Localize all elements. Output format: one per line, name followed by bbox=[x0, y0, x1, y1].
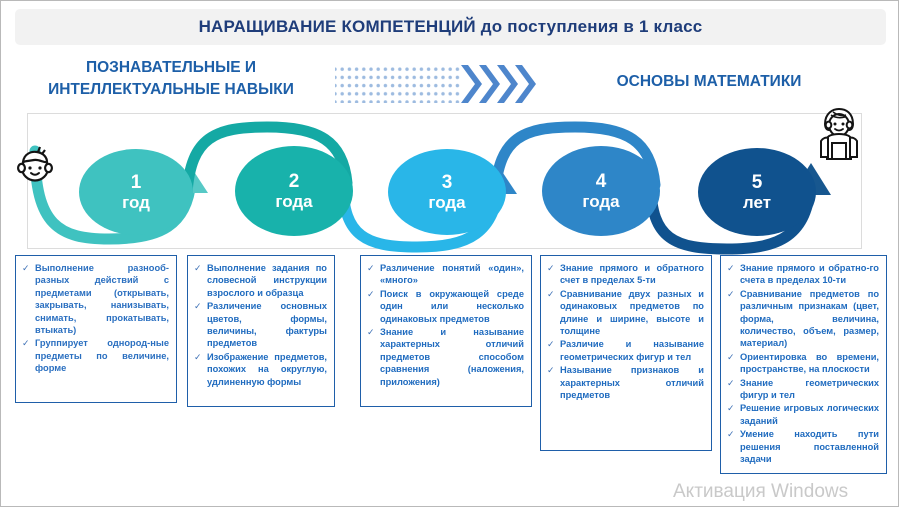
competency-item-text: Знание прямого и обратного счет в предел… bbox=[560, 262, 704, 287]
slide-title-bar: НАРАЩИВАНИЕ КОМПЕТЕНЦИЙ до поступления в… bbox=[15, 9, 886, 45]
competency-item: ✓Сравнивание предметов по различным приз… bbox=[727, 288, 879, 350]
check-icon: ✓ bbox=[727, 351, 737, 364]
competency-item-text: Умение находить пути решения поставленно… bbox=[740, 428, 879, 465]
competency-item: ✓Группирует однород-ные предметы по вели… bbox=[22, 337, 169, 374]
check-icon: ✓ bbox=[547, 338, 557, 351]
slide-root: НАРАЩИВАНИЕ КОМПЕТЕНЦИЙ до поступления в… bbox=[0, 0, 899, 507]
check-icon: ✓ bbox=[194, 351, 204, 364]
competency-item-text: Выполнение разнооб-разных действий с пре… bbox=[35, 262, 169, 336]
competency-item-text: Сравнивание предметов по различным призн… bbox=[740, 288, 879, 350]
stage-circle-4[interactable]: 4 года bbox=[542, 146, 660, 236]
stage-unit: года bbox=[582, 192, 619, 211]
schoolboy-icon bbox=[813, 107, 865, 163]
stage-circle-1[interactable]: 1 год bbox=[79, 149, 193, 235]
competency-item: ✓Выполнение разнооб-разных действий с пр… bbox=[22, 262, 169, 336]
competency-item-text: Изображение предметов, похожих на округл… bbox=[207, 351, 327, 388]
competency-item-text: Знание геометрических фигур и тел bbox=[740, 377, 879, 402]
page-title: НАРАЩИВАНИЕ КОМПЕТЕНЦИЙ до поступления в… bbox=[199, 17, 703, 37]
check-icon: ✓ bbox=[547, 288, 557, 301]
stage-number: 4 bbox=[596, 171, 607, 192]
competency-item: ✓Различение основных цветов, формы, вели… bbox=[194, 300, 327, 350]
page-title-strong: НАРАЩИВАНИЕ КОМПЕТЕНЦИЙ bbox=[199, 17, 476, 36]
competency-box-3: ✓Различение понятий «один», «много»✓Поис… bbox=[360, 255, 532, 407]
competency-box-1: ✓Выполнение разнооб-разных действий с пр… bbox=[15, 255, 177, 403]
competency-item-text: Поиск в окружающей среде один или нескол… bbox=[380, 288, 524, 325]
stage-number: 3 bbox=[442, 172, 453, 193]
competency-item-text: Решение игровых логических заданий bbox=[740, 402, 879, 427]
stage-unit: года bbox=[275, 192, 312, 211]
competency-box-5: ✓Знание прямого и обратно-го счета в пре… bbox=[720, 255, 887, 474]
competency-item-text: Ориентировка во времени, пространстве, н… bbox=[740, 351, 879, 376]
check-icon: ✓ bbox=[367, 262, 377, 275]
check-icon: ✓ bbox=[367, 288, 377, 301]
competency-item-text: Сравнивание двух разных и одинаковых пре… bbox=[560, 288, 704, 338]
competency-item-text: Выполнение задания по словесной инструкц… bbox=[207, 262, 327, 299]
check-icon: ✓ bbox=[727, 262, 737, 275]
competency-item: ✓Решение игровых логических заданий bbox=[727, 402, 879, 427]
chevron-arrows-icon bbox=[333, 59, 538, 107]
stage-circle-5[interactable]: 5 лет bbox=[698, 148, 816, 236]
stage-unit: года bbox=[428, 193, 465, 212]
competency-item-text: Различение основных цветов, формы, велич… bbox=[207, 300, 327, 350]
stage-unit: год bbox=[122, 193, 150, 212]
check-icon: ✓ bbox=[727, 288, 737, 301]
competency-item: ✓Умение находить пути решения поставленн… bbox=[727, 428, 879, 465]
heading-right: ОСНОВЫ МАТЕМАТИКИ bbox=[549, 73, 869, 91]
competency-item: ✓Сравнивание двух разных и одинаковых пр… bbox=[547, 288, 704, 338]
stage-number: 2 bbox=[289, 171, 300, 192]
competency-item: ✓Знание геометрических фигур и тел bbox=[727, 377, 879, 402]
competency-item-text: Знание и называние характерных отличий п… bbox=[380, 326, 524, 388]
competency-item: ✓Поиск в окружающей среде один или неско… bbox=[367, 288, 524, 325]
competency-item-text: Различие и называние геометрических фигу… bbox=[560, 338, 704, 363]
check-icon: ✓ bbox=[727, 428, 737, 441]
check-icon: ✓ bbox=[22, 262, 32, 275]
competency-item: ✓Ориентировка во времени, пространстве, … bbox=[727, 351, 879, 376]
stage-number: 5 bbox=[752, 172, 763, 193]
check-icon: ✓ bbox=[194, 262, 204, 275]
competency-item-text: Различение понятий «один», «много» bbox=[380, 262, 524, 287]
stage-circle-3[interactable]: 3 года bbox=[388, 149, 506, 235]
heading-left: ПОЗНАВАТЕЛЬНЫЕ И ИНТЕЛЛЕКТУАЛЬНЫЕ НАВЫКИ bbox=[21, 57, 321, 102]
competency-item-text: Называние признаков и характерных отличи… bbox=[560, 364, 704, 401]
heading-left-line1: ПОЗНАВАТЕЛЬНЫЕ И bbox=[21, 57, 321, 79]
competency-item-text: Знание прямого и обратно-го счета в пред… bbox=[740, 262, 879, 287]
competency-item: ✓Знание прямого и обратно-го счета в пре… bbox=[727, 262, 879, 287]
check-icon: ✓ bbox=[194, 300, 204, 313]
page-title-rest: до поступления в 1 класс bbox=[476, 17, 703, 36]
stage-circle-2[interactable]: 2 года bbox=[235, 146, 353, 236]
boy-face-icon bbox=[11, 143, 59, 191]
competency-item: ✓Изображение предметов, похожих на округ… bbox=[194, 351, 327, 388]
competency-box-2: ✓Выполнение задания по словесной инструк… bbox=[187, 255, 335, 407]
heading-left-line2: ИНТЕЛЛЕКТУАЛЬНЫЕ НАВЫКИ bbox=[21, 79, 321, 101]
stage-unit: лет bbox=[743, 193, 771, 212]
windows-activation-watermark: Активация Windows bbox=[673, 481, 848, 503]
competency-item: ✓Различие и называние геометрических фиг… bbox=[547, 338, 704, 363]
stage-number: 1 bbox=[131, 172, 142, 193]
check-icon: ✓ bbox=[22, 337, 32, 350]
competency-item: ✓Различение понятий «один», «много» bbox=[367, 262, 524, 287]
competency-item: ✓Знание прямого и обратного счет в преде… bbox=[547, 262, 704, 287]
check-icon: ✓ bbox=[727, 377, 737, 390]
check-icon: ✓ bbox=[547, 364, 557, 377]
competency-box-4: ✓Знание прямого и обратного счет в преде… bbox=[540, 255, 712, 451]
competency-item: ✓Знание и называние характерных отличий … bbox=[367, 326, 524, 388]
check-icon: ✓ bbox=[727, 402, 737, 415]
check-icon: ✓ bbox=[367, 326, 377, 339]
competency-item: ✓Называние признаков и характерных отлич… bbox=[547, 364, 704, 401]
competency-item: ✓Выполнение задания по словесной инструк… bbox=[194, 262, 327, 299]
competency-item-text: Группирует однород-ные предметы по велич… bbox=[35, 337, 169, 374]
check-icon: ✓ bbox=[547, 262, 557, 275]
